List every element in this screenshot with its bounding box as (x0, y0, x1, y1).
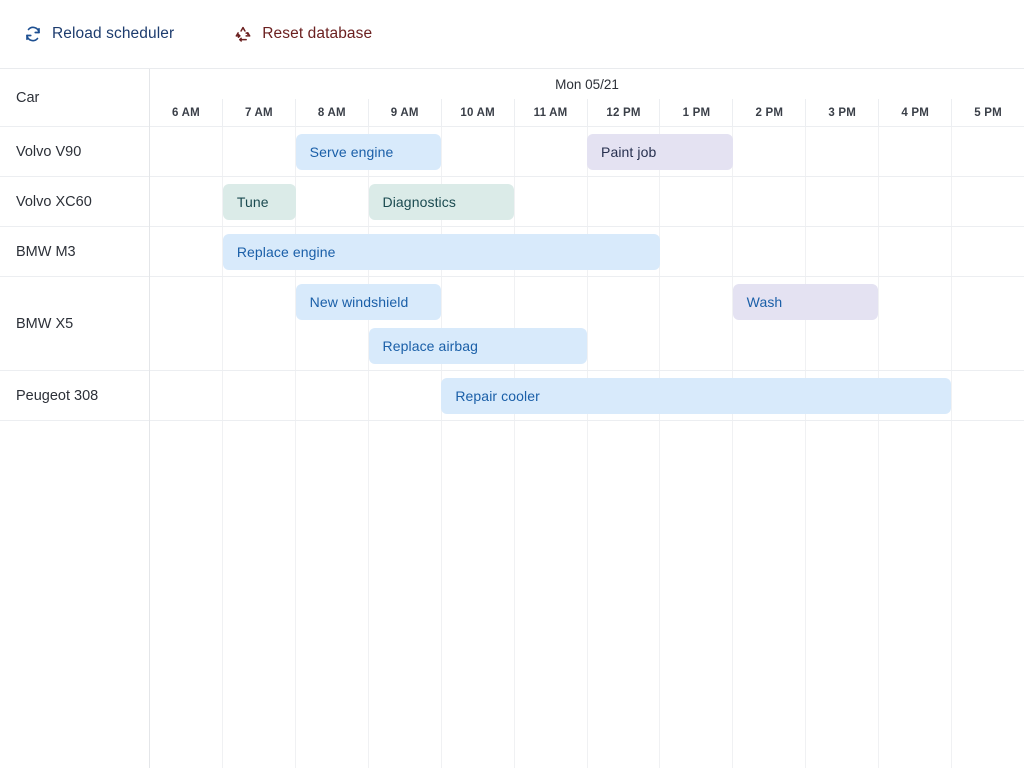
hour-header-cell[interactable]: 6 AM (150, 99, 222, 126)
resource-label: BMW M3 (16, 244, 76, 260)
event-bar[interactable]: Tune (223, 184, 296, 220)
hour-header-cell[interactable]: 8 AM (295, 99, 368, 126)
resource-row[interactable]: Peugeot 308 (0, 371, 149, 421)
event-label: Repair cooler (455, 388, 540, 404)
event-label: Serve engine (310, 144, 394, 160)
event-bar[interactable]: Paint job (587, 134, 733, 170)
event-label: Replace airbag (383, 338, 479, 354)
event-bar[interactable]: New windshield (296, 284, 442, 320)
hour-header-cell[interactable]: 1 PM (659, 99, 732, 126)
hour-header-cell[interactable]: 10 AM (441, 99, 514, 126)
timeline-date-header: Mon 05/21 (150, 69, 1024, 99)
event-label: Wash (747, 294, 783, 310)
resource-row[interactable]: Volvo V90 (0, 127, 149, 177)
resource-row-list: Volvo V90Volvo XC60BMW M3BMW X5Peugeot 3… (0, 127, 149, 421)
hour-header-cell[interactable]: 12 PM (587, 99, 660, 126)
hour-header-cell[interactable]: 9 AM (368, 99, 441, 126)
hour-header-cell[interactable]: 11 AM (514, 99, 587, 126)
recycle-icon (234, 25, 252, 43)
event-label: New windshield (310, 294, 409, 310)
event-bar[interactable]: Repair cooler (441, 378, 951, 414)
event-bar[interactable]: Replace engine (223, 234, 660, 270)
event-label: Replace engine (237, 244, 336, 260)
resource-row[interactable]: BMW M3 (0, 227, 149, 277)
resource-row[interactable]: BMW X5 (0, 277, 149, 371)
reload-scheduler-label: Reload scheduler (52, 25, 174, 43)
event-bar[interactable]: Replace airbag (369, 328, 588, 364)
resource-column-header: Car (0, 69, 149, 127)
event-label: Diagnostics (383, 194, 456, 210)
timeline-grid: Serve enginePaint jobTuneDiagnosticsRepl… (150, 127, 1024, 768)
hour-header-cell[interactable]: 5 PM (951, 99, 1024, 126)
resource-label: BMW X5 (16, 316, 73, 332)
timeline-hour-header: 6 AM7 AM8 AM9 AM10 AM11 AM12 PM1 PM2 PM3… (150, 99, 1024, 127)
resource-label: Peugeot 308 (16, 388, 98, 404)
event-bar[interactable]: Diagnostics (369, 184, 515, 220)
resource-row[interactable]: Volvo XC60 (0, 177, 149, 227)
event-layer: Serve enginePaint jobTuneDiagnosticsRepl… (150, 127, 1024, 768)
resource-label: Volvo XC60 (16, 194, 92, 210)
hour-header-cell[interactable]: 7 AM (222, 99, 295, 126)
hour-header-cell[interactable]: 2 PM (732, 99, 805, 126)
reset-database-label: Reset database (262, 25, 372, 43)
event-label: Paint job (601, 144, 656, 160)
refresh-icon (24, 25, 42, 43)
event-bar[interactable]: Serve engine (296, 134, 442, 170)
resource-label: Volvo V90 (16, 144, 81, 160)
reload-scheduler-button[interactable]: Reload scheduler (24, 25, 174, 43)
event-bar[interactable]: Wash (733, 284, 879, 320)
hour-header-cell[interactable]: 3 PM (805, 99, 878, 126)
hour-header-cell[interactable]: 4 PM (878, 99, 951, 126)
toolbar: Reload scheduler Reset database (0, 0, 1024, 68)
event-label: Tune (237, 194, 269, 210)
reset-database-button[interactable]: Reset database (234, 25, 372, 43)
scheduler: Car Volvo V90Volvo XC60BMW M3BMW X5Peuge… (0, 68, 1024, 768)
timeline: Mon 05/21 6 AM7 AM8 AM9 AM10 AM11 AM12 P… (150, 69, 1024, 768)
resource-column: Car Volvo V90Volvo XC60BMW M3BMW X5Peuge… (0, 69, 150, 768)
